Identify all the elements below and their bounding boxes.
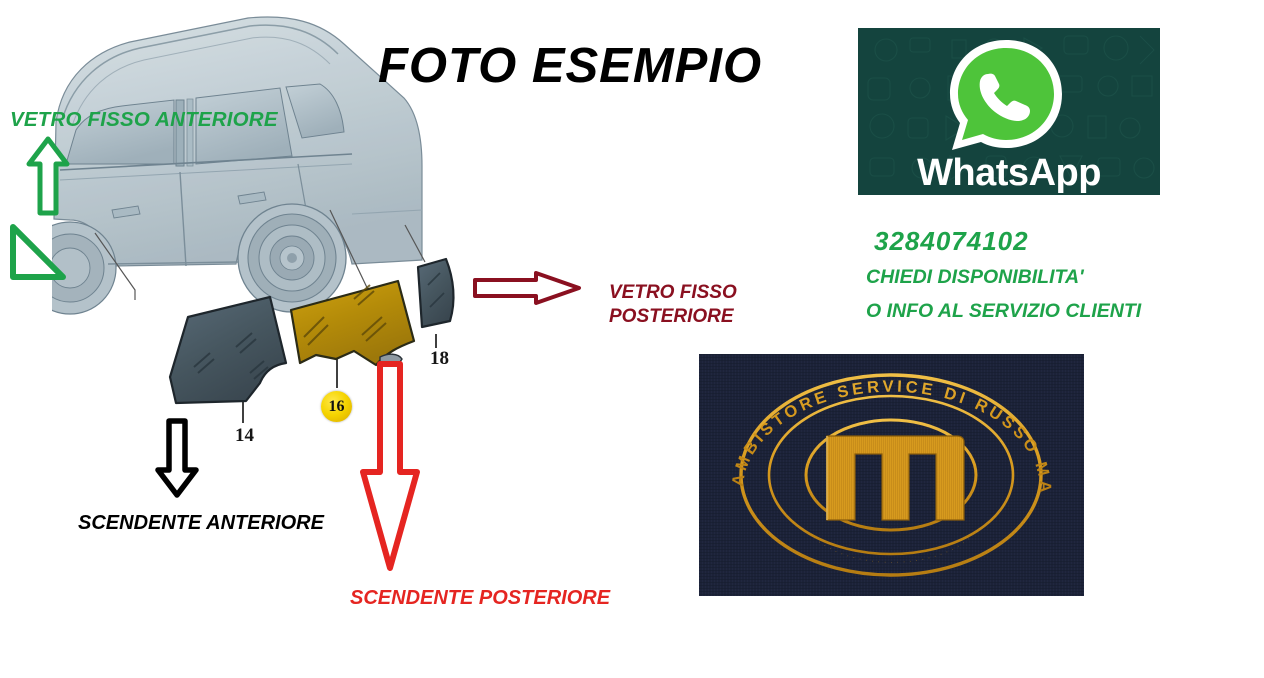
part-label-16: 16 <box>321 391 352 422</box>
whatsapp-wordmark: WhatsApp <box>858 152 1160 195</box>
red-down-arrow-icon <box>358 360 422 572</box>
label-vetro-fisso-posteriore-line1: VETRO FISSO <box>609 281 737 305</box>
page-title: FOTO ESEMPIO <box>378 38 762 94</box>
label-scendente-anteriore: SCENDENTE ANTERIORE <box>78 512 324 535</box>
contact-line-availability: CHIEDI DISPONIBILITA' <box>866 266 1084 289</box>
whatsapp-logo-icon <box>940 36 1070 156</box>
screenshot-canvas: 14 16 17 18 VETRO FISSO ANTERIORE SCENDE… <box>0 0 1264 678</box>
part-14-shape <box>170 297 286 403</box>
part-label-14: 14 <box>235 425 254 447</box>
black-down-arrow-icon <box>155 418 199 498</box>
green-up-arrow-icon <box>26 136 70 216</box>
shop-logo-monogram <box>827 436 964 520</box>
part-18-shape <box>418 259 453 327</box>
label-vetro-fisso-anteriore: VETRO FISSO ANTERIORE <box>10 108 278 132</box>
label-vetro-fisso-posteriore: VETRO FISSO POSTERIORE <box>609 281 737 330</box>
part-label-18: 18 <box>430 348 449 370</box>
phone-number[interactable]: 3284074102 <box>874 226 1029 257</box>
label-vetro-fisso-posteriore-line2: POSTERIORE <box>609 305 737 329</box>
darkred-right-arrow-icon <box>472 270 582 306</box>
contact-line-customer-service: O INFO AL SERVIZIO CLIENTI <box>866 300 1141 323</box>
whatsapp-banner[interactable]: WhatsApp <box>858 28 1160 195</box>
part-16-shape <box>291 281 414 365</box>
green-triangle-icon <box>8 222 66 282</box>
exploded-glass-parts <box>150 255 470 425</box>
label-scendente-posteriore: SCENDENTE POSTERIORE <box>350 587 610 610</box>
shop-logo-photo: MRICAMBISTORE SERVICE DI RUSSO MARCO · ·… <box>699 354 1084 596</box>
